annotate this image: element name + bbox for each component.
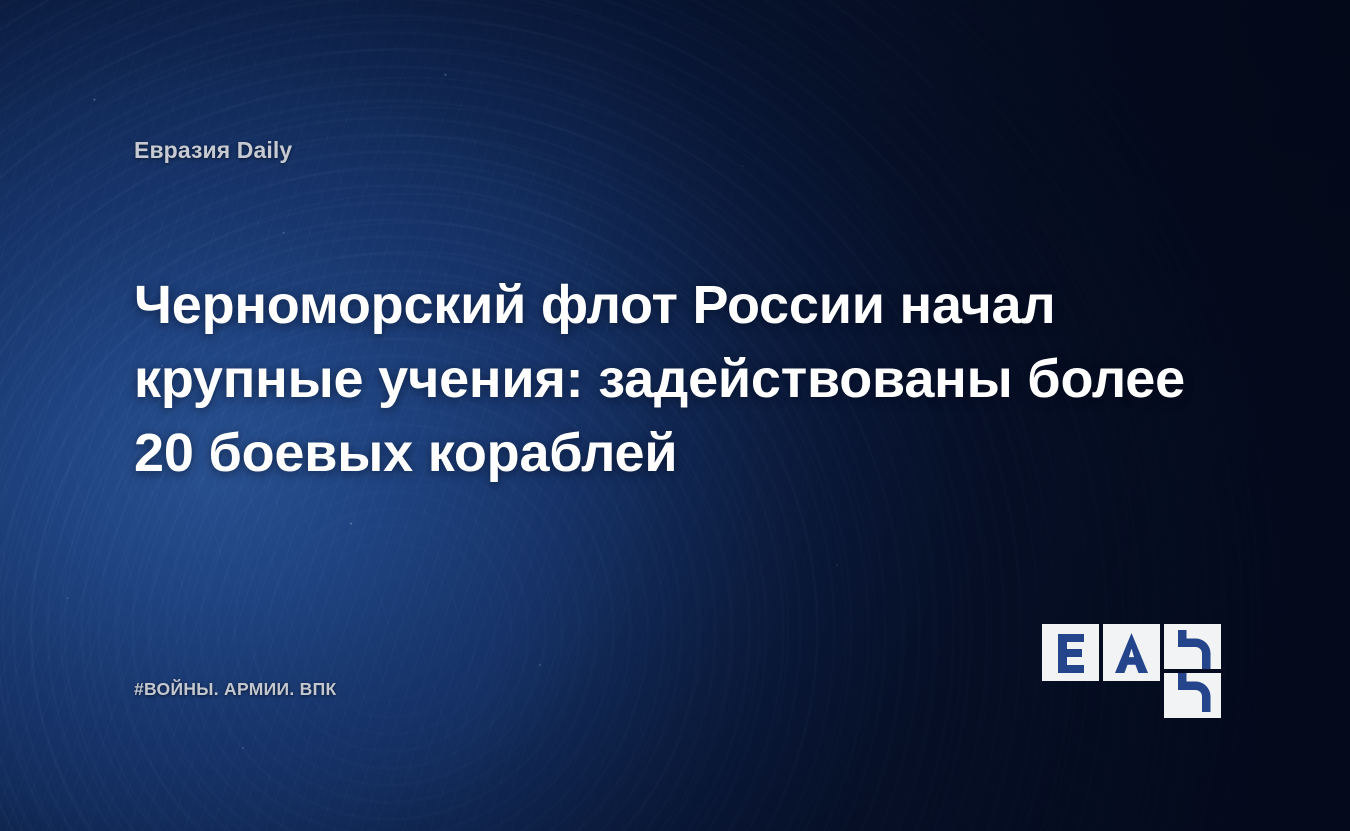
card-content: Евразия Daily Черноморский флот России н…	[0, 0, 1350, 831]
logo-letter-d-bottom-icon	[1164, 673, 1221, 718]
page-title: Черноморский флот России начал крупные у…	[134, 268, 1209, 490]
logo-letter-d-top-icon	[1164, 624, 1221, 669]
logo-letter-d-stack	[1164, 624, 1221, 718]
category-tag: #ВОЙНЫ. АРМИИ. ВПК	[134, 679, 336, 700]
brand-name: Евразия Daily	[134, 137, 292, 164]
logo-letter-a-icon	[1103, 624, 1160, 681]
eadaily-logo	[1042, 624, 1228, 718]
news-cover-card: Евразия Daily Черноморский флот России н…	[0, 0, 1350, 831]
logo-letter-e-icon	[1042, 624, 1099, 681]
